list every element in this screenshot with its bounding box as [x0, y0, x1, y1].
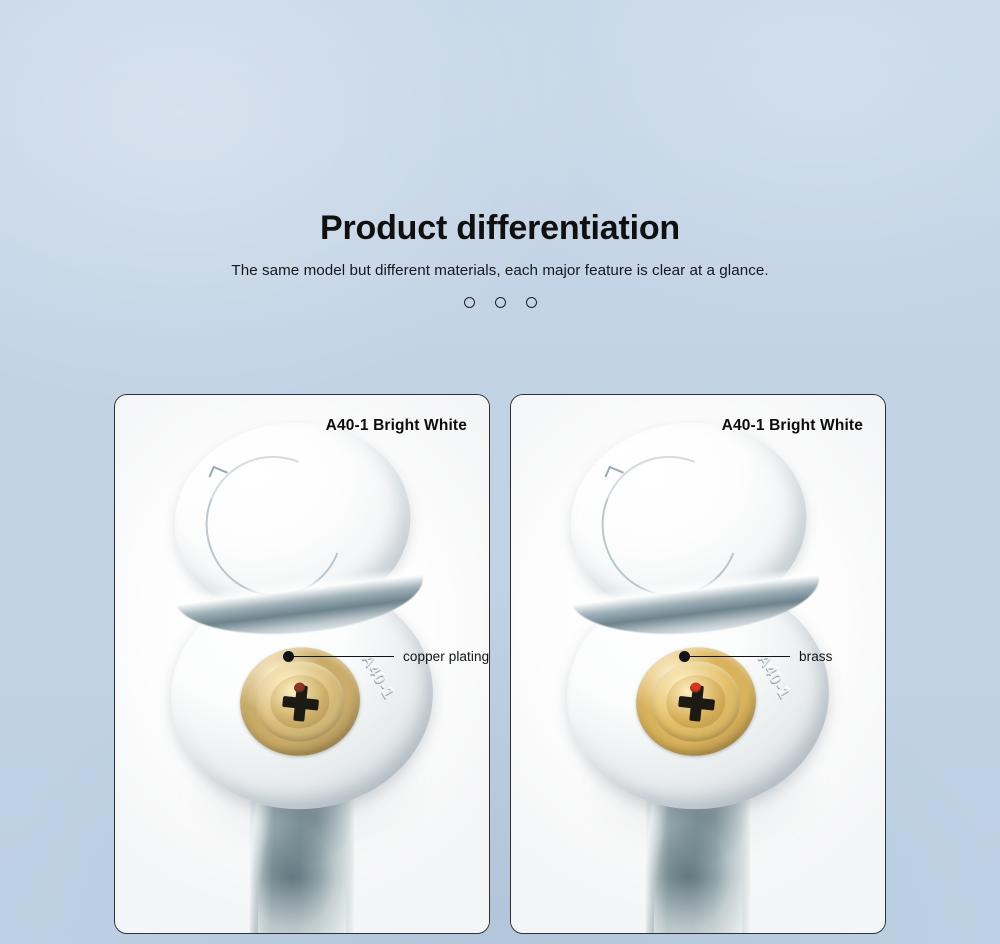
product-card-right[interactable]: A40-1 A40-1 Bright White brass [510, 394, 886, 934]
carousel-dot-2[interactable] [495, 297, 506, 308]
product-photo-right: A40-1 [511, 395, 885, 933]
product-comparison-cards: A40-1 A40-1 Bright White copper plating [114, 394, 886, 934]
page-header: Product differentiation The same model b… [0, 206, 1000, 308]
product-card-left[interactable]: A40-1 A40-1 Bright White copper plating [114, 394, 490, 934]
carousel-dots [0, 297, 1000, 308]
lock-chrome-cap [562, 413, 814, 629]
carousel-dot-1[interactable] [464, 297, 475, 308]
cam-lock-assembly-left: A40-1 [132, 395, 472, 933]
brass-cylinder [233, 640, 367, 764]
cylinder-inner-disc [267, 671, 332, 731]
product-card-title-left: A40-1 Bright White [326, 417, 467, 435]
embossed-model-text: A40-1 [754, 651, 794, 702]
cylinder-mid-ring [647, 656, 746, 747]
page-subtitle: The same model but different materials, … [0, 261, 1000, 281]
cam-lock-assembly-right: A40-1 [528, 395, 868, 933]
cylinder-mid-ring [251, 656, 350, 747]
carousel-dot-3[interactable] [526, 297, 537, 308]
page-title: Product differentiation [0, 206, 1000, 250]
product-photo-left: A40-1 [115, 395, 489, 933]
cylinder-inner-disc [663, 671, 728, 731]
product-card-title-right: A40-1 Bright White [722, 417, 863, 435]
lock-chrome-cap [166, 413, 418, 629]
embossed-model-text: A40-1 [358, 651, 398, 702]
brass-cylinder [629, 640, 763, 764]
